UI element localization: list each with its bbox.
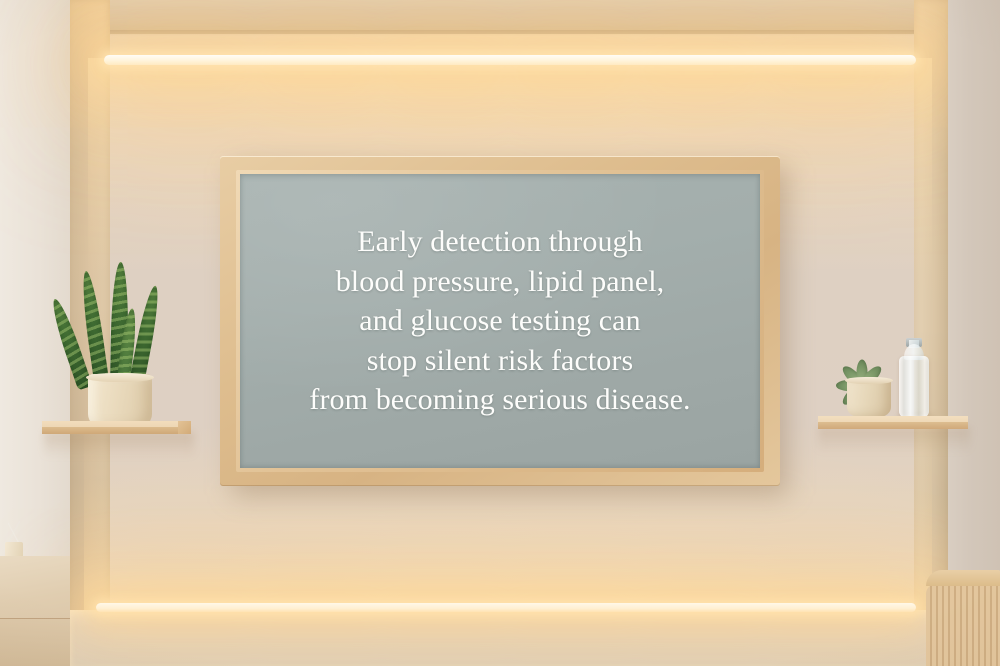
quote-text: Early detection through blood pressure, …: [295, 222, 704, 420]
shelf-left-shadow: [44, 432, 194, 458]
cove-light-strip-bottom: [96, 603, 916, 612]
cove-light-strip-top: [104, 55, 916, 65]
wall-pier-right: [948, 0, 1000, 666]
shelf-front-edge: [818, 422, 968, 429]
niche-bench-ledge: [70, 610, 948, 666]
plant-pot-right: [847, 378, 891, 417]
quote-line-5: from becoming serious disease.: [309, 380, 690, 420]
desk-slat-panel: [926, 584, 1000, 666]
snake-plant: [72, 268, 168, 424]
clinic-wall-scene: Early detection through blood pressure, …: [0, 0, 1000, 666]
niche-soffit: [70, 0, 948, 34]
side-counter: [0, 556, 70, 666]
shelf-front-edge: [42, 427, 190, 434]
glass-water-bottle: [899, 338, 929, 418]
niche-soffit-lip: [70, 30, 948, 36]
quote-line-2: blood pressure, lipid panel,: [309, 262, 690, 302]
pot-rim: [86, 373, 154, 382]
reception-desk: [926, 570, 1000, 666]
counter-front-face: [0, 618, 70, 666]
quote-line-1: Early detection through: [309, 222, 690, 262]
floating-shelf-left: [42, 421, 190, 434]
bottle-body: [899, 356, 929, 418]
floating-shelf-right: [818, 416, 968, 429]
quote-line-3: and glucose testing can: [309, 301, 690, 341]
shelf-end-cap: [178, 421, 191, 434]
desk-top-surface: [926, 570, 1000, 586]
counter-vase: [4, 520, 24, 560]
niche-reveal-right: [914, 0, 948, 666]
quote-panel[interactable]: Early detection through blood pressure, …: [240, 174, 760, 468]
shelf-right-shadow: [818, 427, 970, 453]
pot-rim: [845, 377, 893, 384]
quote-line-4: stop silent risk factors: [309, 341, 690, 381]
